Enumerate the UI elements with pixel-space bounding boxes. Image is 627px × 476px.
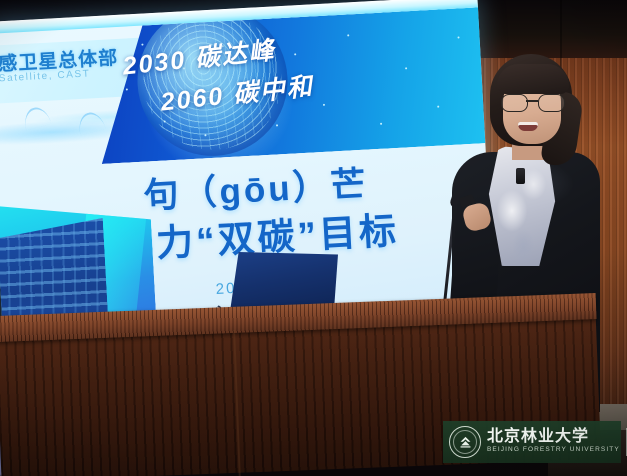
photo-scene: 究院遥感卫星总体部 Sensing Satellite, CAST 2030 碳… bbox=[0, 0, 627, 476]
speaker-mouth bbox=[518, 122, 538, 131]
watermark-university-en: BEIJING FORESTRY UNIVERSITY bbox=[487, 446, 620, 454]
eyeglasses-icon bbox=[500, 94, 566, 110]
watermark-bar: 北京林业大学 BEIJING FORESTRY UNIVERSITY 新闻 NE… bbox=[443, 421, 621, 463]
scarf-clip bbox=[516, 168, 525, 184]
university-seal-icon bbox=[449, 426, 481, 458]
watermark-university-cn: 北京林业大学 bbox=[487, 429, 620, 446]
speaker-fringe bbox=[497, 64, 569, 94]
watermark-university: 北京林业大学 BEIJING FORESTRY UNIVERSITY bbox=[487, 429, 620, 454]
